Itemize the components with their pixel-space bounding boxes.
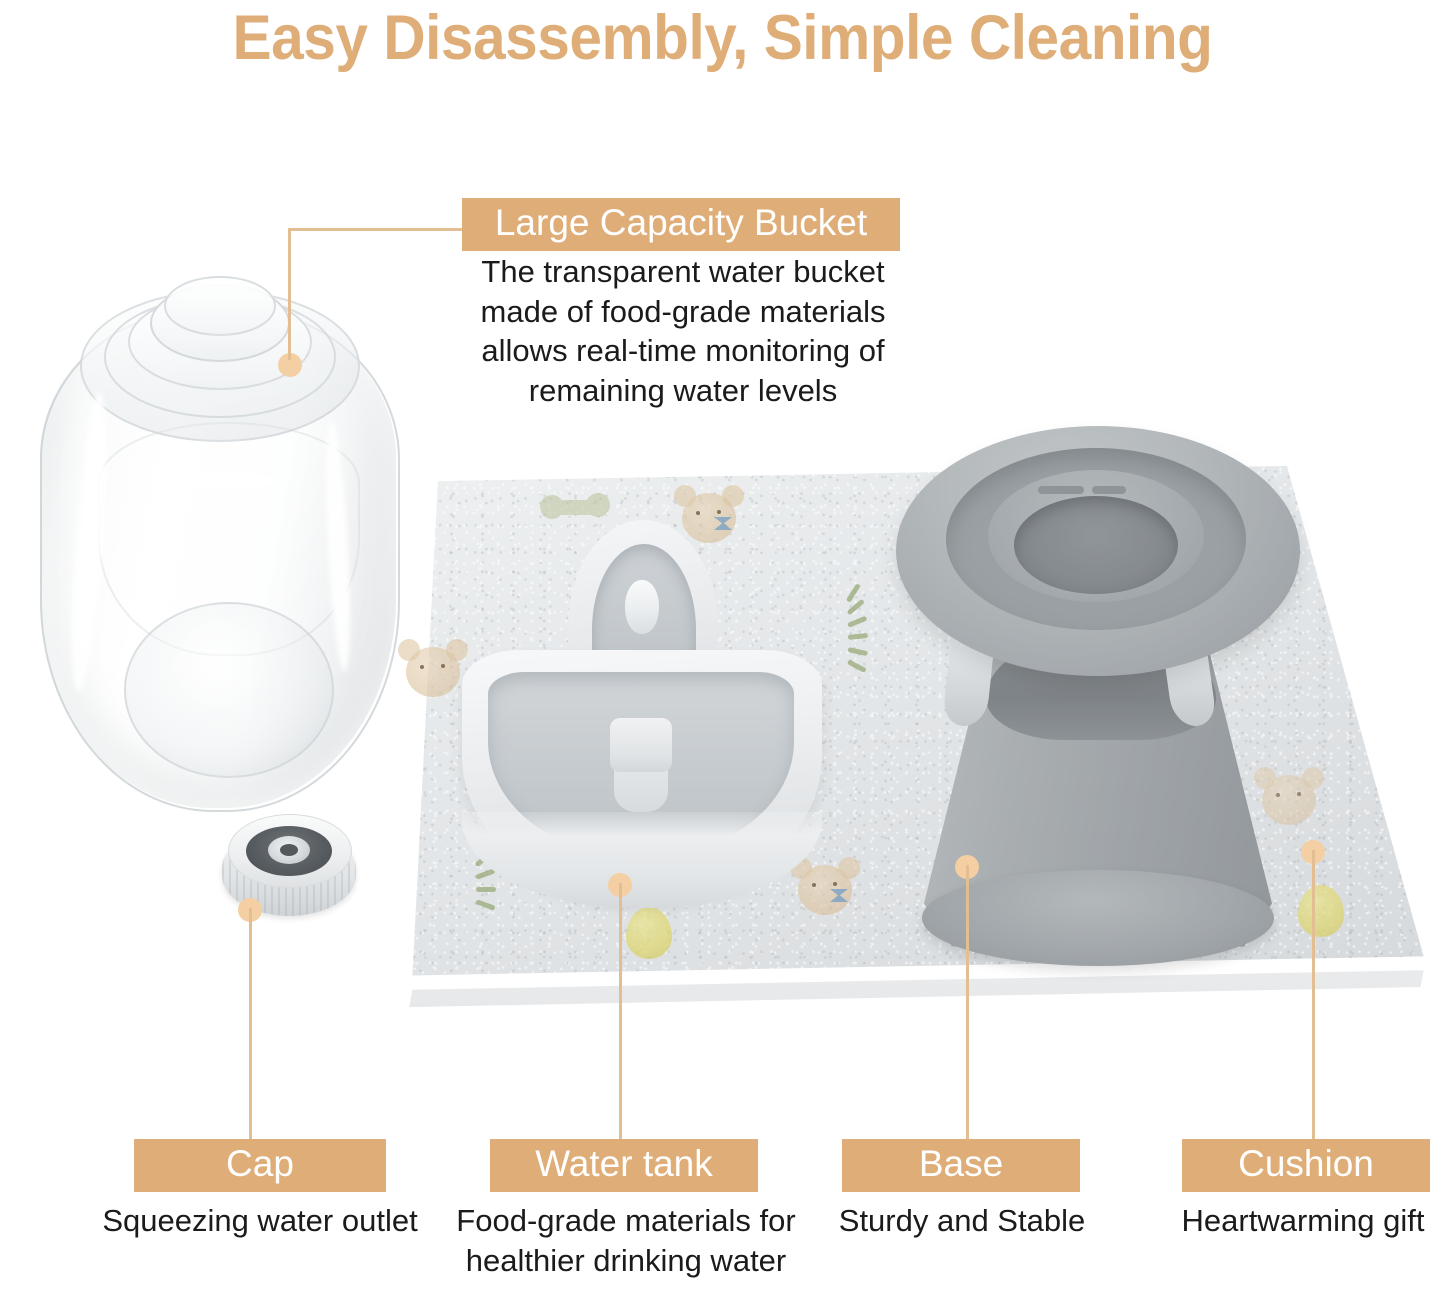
bucket-highlight bbox=[168, 472, 278, 490]
leader-line-bucket-h bbox=[288, 228, 464, 231]
water-tank bbox=[458, 520, 828, 920]
callout-description-cushion: Heartwarming gift bbox=[1158, 1201, 1445, 1241]
page-title: Easy Disassembly, Simple Cleaning bbox=[51, 2, 1395, 74]
callout-label-water-tank: Water tank bbox=[490, 1139, 758, 1192]
tank-spout bbox=[625, 580, 659, 634]
bucket-neck-opening bbox=[164, 276, 276, 336]
base-foot bbox=[922, 870, 1274, 966]
callout-description-water-tank: Food-grade materials for healthier drink… bbox=[452, 1201, 800, 1280]
leader-line-cushion bbox=[1312, 850, 1315, 1144]
bucket-inner-floor bbox=[124, 602, 334, 778]
callout-description-cap: Squeezing water outlet bbox=[60, 1201, 460, 1241]
callout-label-cushion: Cushion bbox=[1182, 1139, 1430, 1192]
callout-label-base: Base bbox=[842, 1139, 1080, 1192]
leader-line-base bbox=[966, 865, 969, 1144]
infographic-canvas: Easy Disassembly, Simple Cleaning bbox=[0, 0, 1445, 1301]
leader-line-bucket-v bbox=[288, 228, 291, 360]
leader-line-water-tank bbox=[619, 883, 622, 1144]
base-notch bbox=[1038, 486, 1084, 494]
callout-description-bucket: The transparent water bucket made of foo… bbox=[440, 252, 926, 411]
water-bucket bbox=[28, 272, 408, 812]
callout-label-bucket: Large Capacity Bucket bbox=[462, 198, 900, 251]
tank-rim bbox=[462, 812, 822, 908]
tank-divider bbox=[610, 718, 672, 772]
base-notch bbox=[1092, 486, 1126, 494]
callout-description-base: Sturdy and Stable bbox=[812, 1201, 1112, 1241]
base-center-hole bbox=[1014, 496, 1178, 594]
callout-label-cap: Cap bbox=[134, 1139, 386, 1192]
leader-line-cap bbox=[249, 908, 252, 1144]
cap-valve-hole bbox=[280, 844, 298, 856]
